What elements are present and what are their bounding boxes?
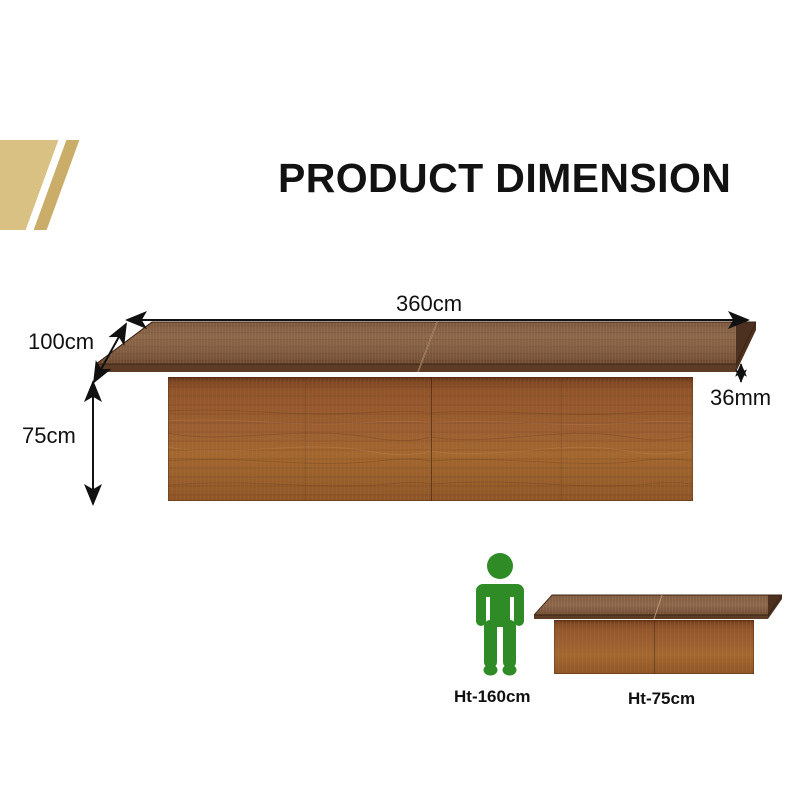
dimension-label-thickness: 36mm [710,385,771,411]
table-base-panel [168,377,693,501]
dimension-label-height: 75cm [22,423,76,449]
dimension-label-length: 360cm [396,291,462,317]
mini-table-base [554,620,754,674]
table-top-surface [96,318,756,380]
mini-table-illustration [534,592,782,674]
person-pictogram [470,552,530,676]
mini-base-seam [654,620,655,674]
main-table-illustration [0,0,800,800]
product-dimension-diagram: PRODUCT DIMENSION [0,0,800,800]
base-center-seam [431,377,432,501]
caption-person-height: Ht-160cm [454,687,531,707]
dimension-label-depth: 100cm [28,329,94,355]
caption-table-height: Ht-75cm [628,689,695,709]
